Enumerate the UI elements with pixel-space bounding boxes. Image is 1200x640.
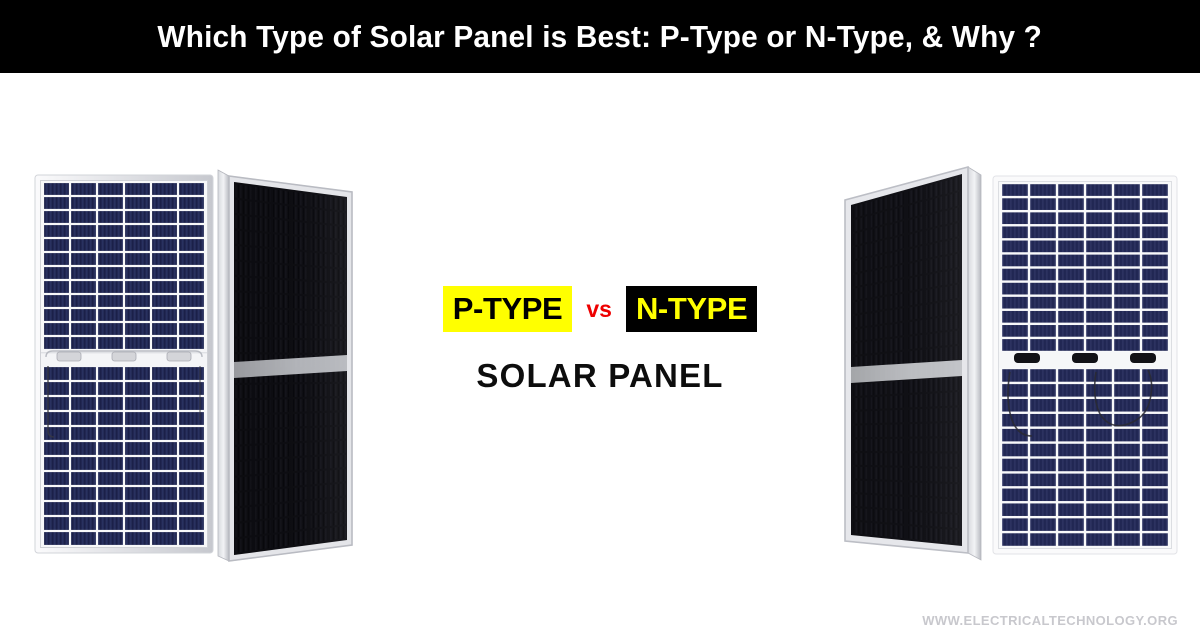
- page-title: Which Type of Solar Panel is Best: P-Typ…: [158, 19, 1043, 55]
- left-dark-panel-angled: [218, 170, 352, 561]
- watermark-url: WWW.ELECTRICALTECHNOLOGY.ORG: [922, 613, 1178, 628]
- type-comparison-row: P-TYPE vs N-TYPE: [390, 285, 810, 333]
- right-blue-bifacial-panel: [993, 176, 1177, 554]
- right-dark-panel-angled: [845, 167, 981, 560]
- vs-label: vs: [584, 298, 614, 321]
- right-blue-junction-boxes: [1014, 353, 1156, 363]
- left-blue-panel: [35, 175, 213, 553]
- title-banner: Which Type of Solar Panel is Best: P-Typ…: [0, 0, 1200, 73]
- comparison-label-block: P-TYPE vs N-TYPE SOLAR PANEL: [390, 285, 810, 420]
- left-blue-junction-boxes: [57, 352, 191, 361]
- screenshot-canvas: Which Type of Solar Panel is Best: P-Typ…: [0, 0, 1200, 640]
- ntype-badge: N-TYPE: [626, 286, 757, 332]
- subtitle-solar-panel: SOLAR PANEL: [390, 357, 810, 395]
- ptype-badge: P-TYPE: [443, 286, 573, 332]
